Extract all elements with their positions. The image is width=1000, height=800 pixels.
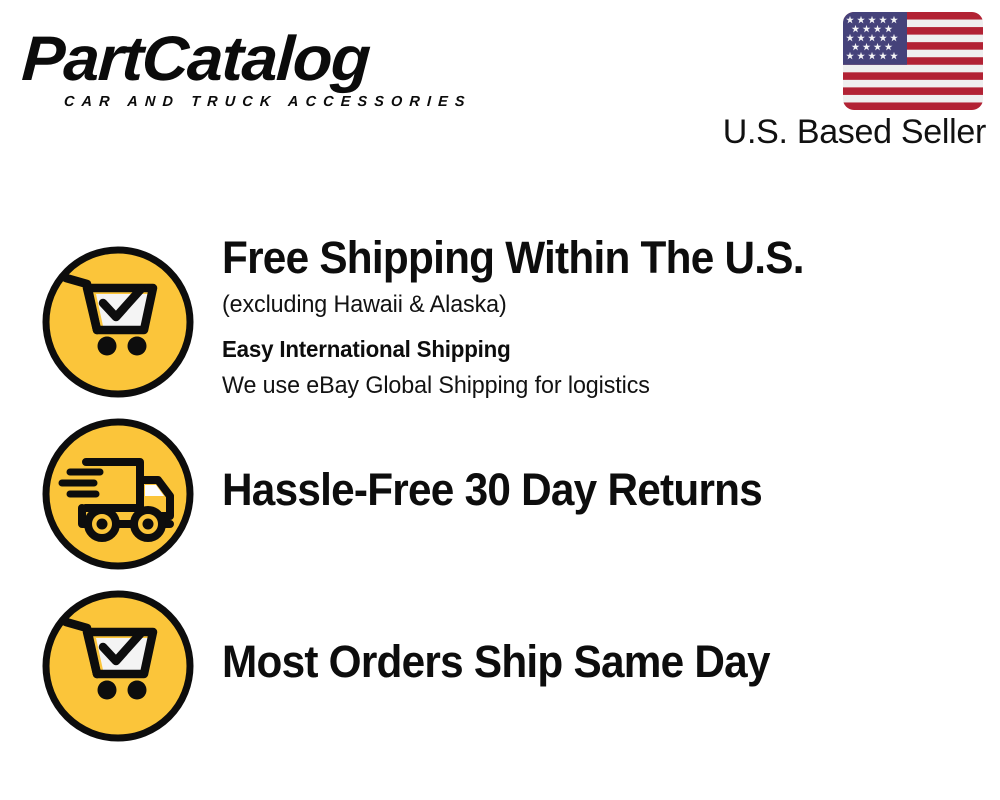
us-flag-graphic bbox=[843, 12, 983, 110]
shopping-cart-check-graphic bbox=[40, 244, 196, 400]
feature-text-returns: Hassle-Free 30 Day Returns bbox=[222, 464, 982, 516]
delivery-truck-icon bbox=[40, 416, 196, 572]
feature-heading: Free Shipping Within The U.S. bbox=[222, 232, 936, 284]
feature-heading: Most Orders Ship Same Day bbox=[222, 636, 936, 688]
us-based-seller-label: U.S. Based Seller bbox=[723, 113, 986, 151]
brand-wordmark: PartCatalog bbox=[20, 26, 508, 92]
feature-text-free-shipping: Free Shipping Within The U.S. (excluding… bbox=[222, 232, 982, 402]
feature-text-same-day-shipping: Most Orders Ship Same Day bbox=[222, 636, 982, 688]
feature-secondary-heading: Easy International Shipping bbox=[222, 333, 959, 365]
shopping-cart-check-icon bbox=[40, 244, 196, 400]
feature-heading: Hassle-Free 30 Day Returns bbox=[222, 464, 936, 516]
us-flag-icon bbox=[843, 12, 983, 110]
shopping-cart-check-graphic bbox=[40, 588, 196, 744]
brand-logo: PartCatalog CAR AND TRUCK ACCESSORIES bbox=[22, 26, 492, 116]
delivery-truck-graphic bbox=[40, 416, 196, 572]
feature-secondary-subtext: We use eBay Global Shipping for logistic… bbox=[222, 370, 959, 402]
shipping-info-banner: PartCatalog CAR AND TRUCK ACCESSORIES bbox=[0, 0, 1000, 800]
shopping-cart-check-icon bbox=[40, 588, 196, 744]
feature-subtext: (excluding Hawaii & Alaska) bbox=[222, 289, 959, 321]
brand-tagline: CAR AND TRUCK ACCESSORIES bbox=[64, 94, 472, 110]
